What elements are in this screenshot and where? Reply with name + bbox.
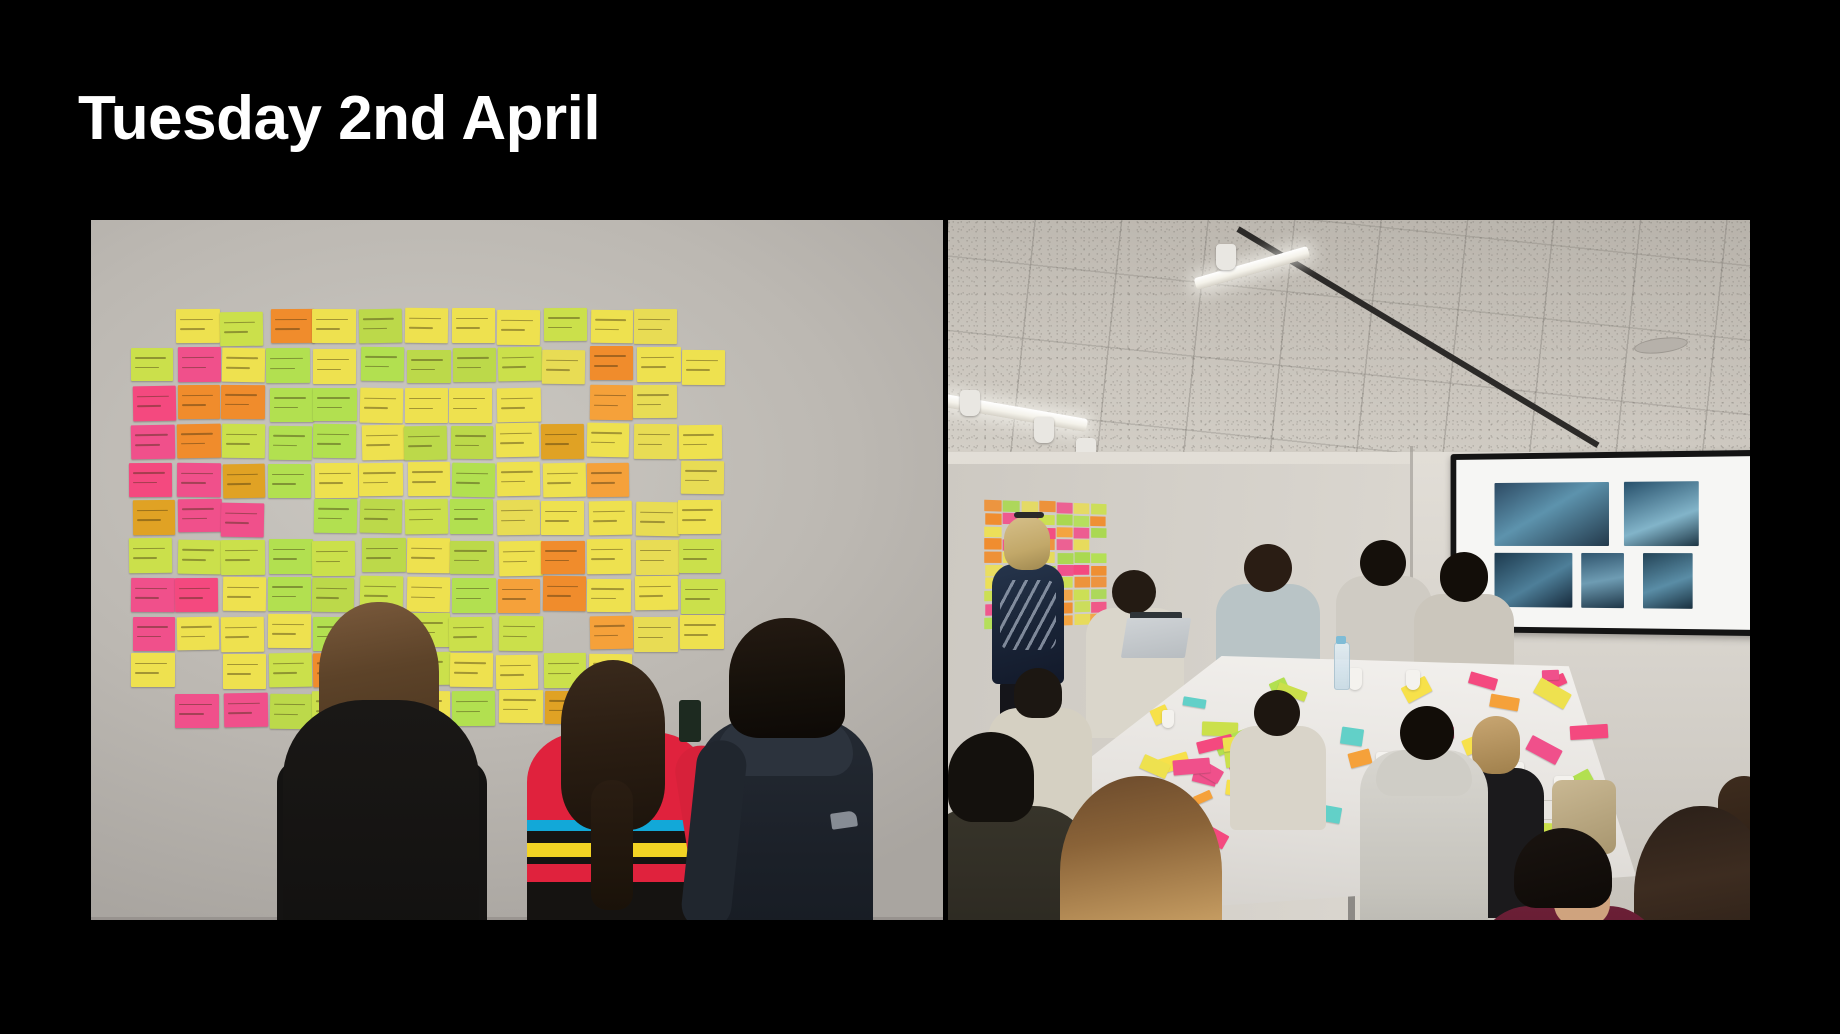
postit-note: [268, 652, 311, 687]
postit-note: [405, 499, 449, 535]
postit-note: [449, 617, 492, 652]
postit-note: [635, 502, 680, 537]
postit-note: [681, 461, 724, 495]
postit-note: [1091, 553, 1106, 564]
postit-note: [220, 311, 263, 346]
suspended-ceiling: [948, 220, 1750, 480]
student-back-row-head: [1112, 570, 1156, 614]
postit-note: [362, 538, 406, 572]
mobile-phone: [679, 700, 701, 742]
postit-note: [496, 423, 540, 458]
postit-note: [315, 463, 358, 498]
postit-note: [984, 500, 1001, 512]
postit-note: [544, 308, 588, 342]
postit-note: [360, 347, 403, 381]
postit-note: [634, 309, 678, 344]
presentation-slide: Tuesday 2nd April: [0, 0, 1840, 1034]
postit-note: [221, 540, 265, 575]
postit-note: [177, 617, 220, 651]
student-seated-head: [1014, 668, 1062, 718]
postit-note: [312, 308, 356, 342]
postit-note: [133, 385, 176, 420]
postit-note: [636, 540, 679, 575]
photo-right-content: [948, 220, 1750, 920]
postit-note: [586, 423, 629, 458]
postit-note: [450, 653, 493, 687]
postit-note: [679, 424, 722, 458]
postit-note: [985, 551, 1002, 562]
photo-students-at-postit-wall: [91, 220, 943, 920]
postit-note: [268, 577, 311, 611]
postit-note: [451, 425, 494, 459]
postit-note: [496, 655, 539, 690]
postit-note: [268, 614, 312, 648]
postit-note: [499, 541, 543, 577]
postit-note: [270, 388, 314, 422]
postit-note: [405, 308, 449, 343]
postit-note: [359, 463, 404, 497]
postit-note: [1057, 502, 1073, 513]
postit-note: [220, 502, 264, 537]
postit-note: [497, 462, 540, 496]
postit-note: [589, 615, 632, 649]
postit-note: [133, 617, 175, 651]
student-seated: [1230, 726, 1326, 830]
postit-note: [1091, 566, 1106, 577]
postit-note: [498, 616, 542, 652]
postit-note: [499, 690, 543, 724]
postit-note: [542, 350, 586, 385]
postit-note: [131, 347, 173, 380]
slide-photo: [1495, 482, 1609, 547]
postit-note: [984, 538, 1001, 549]
postit-note: [497, 309, 540, 344]
postit-note: [541, 423, 584, 458]
student-foreground-left-head: [948, 732, 1034, 822]
postit-note: [984, 526, 1001, 537]
postit-note: [359, 309, 402, 343]
postit-note: [268, 426, 312, 460]
postit-note: [634, 617, 678, 652]
student-grey-hoodie-head: [1400, 706, 1454, 760]
postit-note: [314, 499, 357, 533]
postit-note: [362, 424, 406, 459]
postit-note: [590, 346, 633, 380]
postit-note: [985, 513, 1002, 525]
postit-note: [1090, 516, 1105, 527]
postit-note: [1039, 501, 1055, 512]
postit-note: [1074, 527, 1090, 538]
postit-note: [129, 538, 172, 573]
track-spotlight: [1216, 244, 1236, 270]
postit-note: [589, 501, 632, 536]
slide-photo: [1624, 481, 1699, 546]
postit-note: [680, 615, 724, 649]
postit-note: [177, 462, 221, 496]
postit-note: [587, 463, 630, 497]
postit-note: [131, 578, 175, 613]
postit-note: [313, 423, 356, 458]
postit-note: [678, 500, 721, 534]
page-title: Tuesday 2nd April: [78, 86, 600, 151]
postit-note: [634, 424, 678, 459]
slide-photo: [1495, 553, 1573, 607]
postit-note: [222, 424, 265, 459]
postit-note: [496, 387, 540, 422]
postit-note: [637, 347, 681, 382]
person-black-coat-body: [283, 700, 479, 920]
slide-photo: [1643, 553, 1693, 608]
postit-note: [223, 463, 266, 498]
person-striped-jumper-ponytail: [591, 780, 633, 910]
postit-note: [1091, 527, 1106, 538]
glasses-icon: [1014, 512, 1044, 518]
postit-note: [266, 348, 310, 383]
postit-note: [178, 385, 221, 420]
student-back-row-head: [1244, 544, 1292, 592]
student-seated-head: [1254, 690, 1300, 736]
postit-note: [682, 349, 725, 384]
postit-note: [453, 348, 496, 382]
postit-note: [177, 423, 221, 457]
postit-note: [175, 578, 218, 613]
postit-note: [635, 576, 679, 610]
postit-note: [452, 691, 496, 727]
presenter-hair: [1004, 516, 1050, 570]
postit-note: [1073, 516, 1089, 527]
postit-note: [407, 462, 450, 496]
bottle-cap: [1336, 636, 1346, 644]
postit-note: [178, 539, 221, 574]
postit-note: [587, 539, 631, 574]
postit-note: [268, 464, 311, 498]
postit-note: [133, 499, 176, 534]
postit-note: [1075, 577, 1091, 588]
track-spotlight: [1034, 417, 1054, 443]
postit-note: [633, 385, 677, 419]
presenter-top-pattern: [1000, 580, 1056, 650]
postit-note: [129, 463, 172, 497]
postit-note: [131, 653, 175, 687]
postit-note: [590, 385, 634, 421]
laptop: [1121, 618, 1191, 658]
postit-note: [313, 388, 357, 421]
postit-note: [312, 540, 355, 575]
water-bottle: [1334, 642, 1350, 690]
person-navy-jacket-hair: [729, 618, 845, 738]
postit-note: [403, 426, 446, 461]
postit-note: [541, 501, 584, 535]
postit-note: [497, 500, 541, 535]
postit-note: [313, 349, 356, 384]
postit-note: [269, 539, 313, 574]
postit-note: [224, 692, 268, 727]
postit-note: [1074, 565, 1090, 576]
postit-note: [222, 577, 265, 612]
postit-note: [178, 499, 222, 533]
postit-note: [1091, 504, 1106, 515]
postit-note: [176, 309, 220, 343]
postit-note: [498, 578, 540, 612]
postit-note: [452, 463, 495, 498]
slide-photo: [1582, 553, 1625, 608]
student-back-row-head: [1440, 552, 1488, 602]
postit-note: [221, 385, 265, 419]
postit-note: [543, 462, 586, 497]
postit-note: [587, 579, 631, 613]
postit-note: [405, 388, 448, 423]
postit-note: [359, 499, 402, 534]
postit-note: [452, 308, 495, 343]
postit-note: [590, 310, 633, 344]
postit-note: [312, 578, 355, 613]
postit-note: [1074, 540, 1090, 551]
postit-note: [131, 424, 176, 458]
track-spotlight: [960, 390, 980, 416]
photo-classroom-workshop: [948, 220, 1750, 920]
postit-note: [1074, 590, 1090, 601]
postit-note: [543, 576, 586, 611]
photo-left-content: [91, 220, 943, 920]
postit-note: [360, 387, 404, 422]
postit-note: [222, 348, 266, 383]
postit-note: [452, 578, 496, 613]
postit-note: [1057, 527, 1073, 538]
postit-note: [1056, 540, 1072, 551]
postit-note: [1074, 503, 1090, 514]
postit-note: [1075, 601, 1091, 612]
postit-note: [1091, 577, 1106, 588]
postit-note: [449, 388, 492, 423]
ceiling-tile-texture: [948, 220, 1750, 480]
postit-note: [450, 541, 494, 574]
postit-note: [1074, 552, 1090, 563]
postit-note: [541, 541, 585, 574]
postit-note: [679, 539, 721, 573]
postit-note: [175, 694, 219, 728]
postit-note: [407, 350, 451, 384]
postit-note: [271, 309, 315, 344]
postit-note: [407, 537, 450, 572]
postit-note: [1057, 514, 1073, 525]
student-back-row-head: [1360, 540, 1406, 586]
postit-note: [498, 346, 542, 381]
postit-note: [178, 347, 221, 382]
postit-note: [1057, 553, 1073, 564]
postit-note: [223, 654, 266, 689]
postit-note: [221, 617, 265, 652]
postit-note: [450, 499, 493, 534]
postit-note: [1003, 501, 1020, 513]
postit-note: [407, 577, 450, 613]
postit-note: [1091, 589, 1106, 600]
postit-note: [681, 579, 725, 614]
